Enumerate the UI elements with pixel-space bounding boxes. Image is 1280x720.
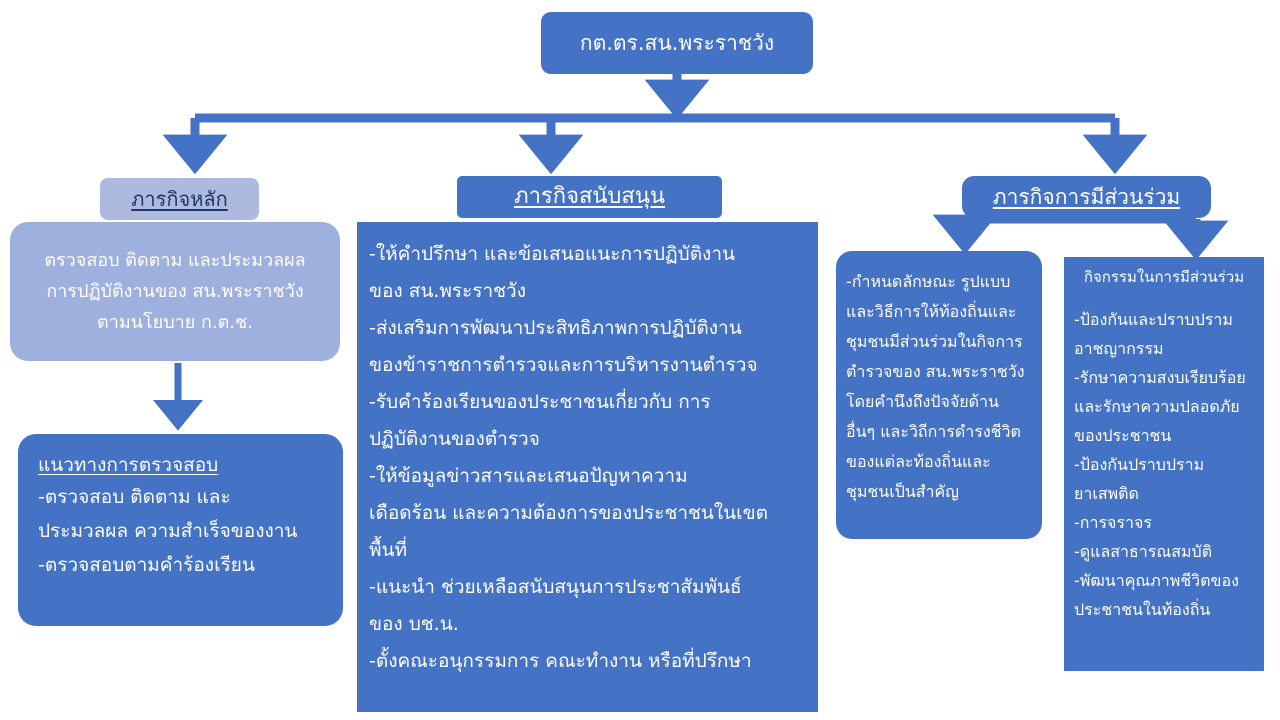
support-mission-text: -ให้คำปรึกษา และข้อเสนอแนะการปฏิบัติงาน …	[369, 236, 806, 680]
inspection-guideline-box[interactable]: แนวทางการตรวจสอบ -ตรวจสอบ ติดตาม และ ประ…	[18, 434, 343, 626]
branch-header-support-mission-label: ภารกิจสนับสนุน	[514, 184, 665, 210]
main-mission-body-text: ตรวจสอบ ติดตาม และประมวลผล การปฏิบัติงาน…	[44, 245, 305, 338]
participation-definition-box[interactable]: -กำหนดลักษณะ รูปแบบ และวิธีการให้ท้องถิ่…	[836, 251, 1042, 539]
participation-activities-text: -ป้องกันและปราบปราม อาชญากรรม -รักษาความ…	[1074, 305, 1254, 624]
root-node[interactable]: กต.ตร.สน.พระราชวัง	[541, 12, 813, 74]
inspection-guideline-title: แนวทางการตรวจสอบ	[38, 450, 323, 480]
participation-activities-header-label: กิจกรรมในการมีส่วนร่วม	[1084, 267, 1244, 287]
branch-header-support-mission[interactable]: ภารกิจสนับสนุน	[457, 176, 722, 218]
branch-header-main-mission-label: ภารกิจหลัก	[131, 187, 228, 211]
branch-header-participation-mission-label: ภารกิจการมีส่วนร่วม	[993, 184, 1180, 210]
support-mission-box[interactable]: -ให้คำปรึกษา และข้อเสนอแนะการปฏิบัติงาน …	[357, 222, 818, 712]
main-mission-body[interactable]: ตรวจสอบ ติดตาม และประมวลผล การปฏิบัติงาน…	[10, 222, 340, 361]
participation-activities-header[interactable]: กิจกรรมในการมีส่วนร่วม	[1064, 257, 1264, 297]
root-node-label: กต.ตร.สน.พระราชวัง	[580, 30, 774, 56]
participation-activities-box[interactable]: -ป้องกันและปราบปราม อาชญากรรม -รักษาความ…	[1064, 257, 1264, 671]
participation-definition-text: -กำหนดลักษณะ รูปแบบ และวิธีการให้ท้องถิ่…	[846, 267, 1032, 507]
branch-header-participation-mission[interactable]: ภารกิจการมีส่วนร่วม	[962, 176, 1211, 218]
branch-header-main-mission[interactable]: ภารกิจหลัก	[100, 178, 259, 220]
inspection-guideline-text: -ตรวจสอบ ติดตาม และ ประมวลผล ความสำเร็จข…	[38, 480, 323, 582]
